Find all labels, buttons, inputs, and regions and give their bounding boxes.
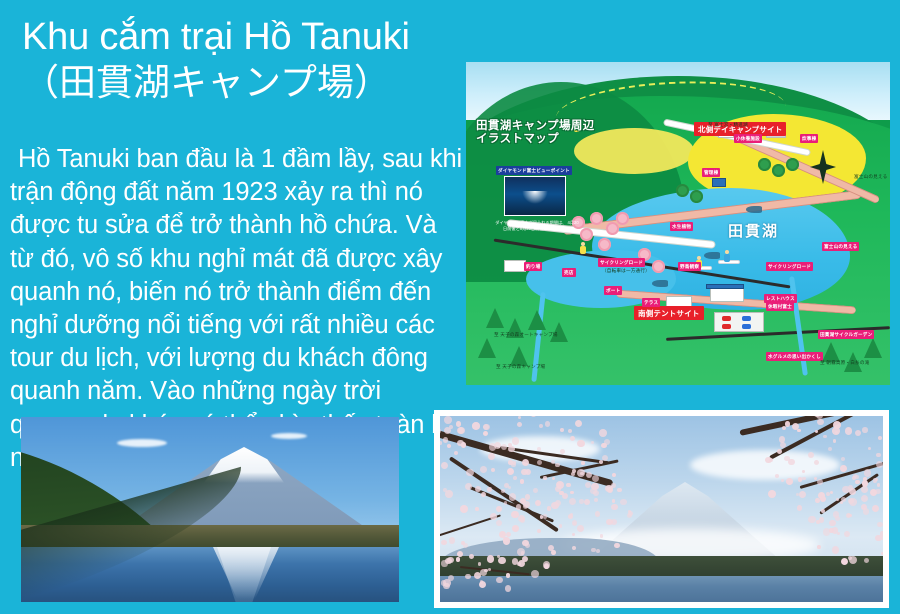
- cherry-blossom: [443, 583, 449, 589]
- cherry-blossom: [784, 456, 790, 462]
- cherry-blossom: [513, 476, 517, 480]
- cherry-blossom: [560, 428, 564, 432]
- compass-west: [810, 163, 823, 171]
- map-car-icon: [722, 316, 731, 321]
- map-label-chip: 水生植物: [670, 222, 693, 231]
- cherry-blossom: [862, 427, 867, 432]
- cherry-blossom: [840, 465, 847, 472]
- cherry-blossom: [602, 455, 608, 461]
- map-conifer: [486, 308, 504, 328]
- cherry-blossom: [469, 554, 474, 559]
- photo-cloud: [271, 433, 307, 439]
- cherry-blossom: [820, 496, 826, 502]
- cherry-blossom: [508, 486, 511, 489]
- cherry-blossom: [821, 509, 825, 513]
- cherry-blossom: [488, 568, 491, 571]
- cherry-blossom: [802, 477, 805, 480]
- cherry-blossom: [548, 545, 554, 551]
- cherry-blossom: [579, 499, 584, 504]
- cherry-blossom: [570, 491, 574, 495]
- cherry-blossom: [504, 501, 508, 505]
- cherry-blossom: [543, 561, 551, 569]
- cherry-blossom: [505, 585, 512, 592]
- map-building-resthouse: [710, 288, 744, 302]
- map-label-chip: 田貫湖サイクルガーデン: [818, 330, 874, 339]
- cherry-blossom: [577, 440, 584, 447]
- cherry-blossom: [487, 555, 494, 562]
- map-parking-lot: [714, 312, 764, 332]
- cherry-blossom: [509, 493, 516, 500]
- map-label-chip: 至 天子の森オートキャンプ場: [492, 330, 560, 339]
- map-label-chip: 至 天子の森キャンプ場: [494, 362, 547, 371]
- cherry-blossom: [863, 477, 867, 481]
- map-label-chip: 至 朝霧高原・白糸の滝: [818, 358, 871, 367]
- cherry-blossom: [496, 506, 502, 512]
- cherry-blossom: [881, 552, 883, 555]
- cherry-blossom: [844, 531, 850, 537]
- map-conifer: [478, 338, 496, 358]
- cherry-blossom: [475, 486, 481, 492]
- map-cherry-tree: [580, 228, 593, 241]
- map-fish-icon: [652, 280, 668, 287]
- cherry-blossom: [799, 491, 806, 498]
- map-person-body: [580, 246, 586, 254]
- cherry-blossom: [599, 460, 603, 464]
- cherry-blossom: [841, 497, 846, 502]
- map-label-chip: 富士山の見える: [852, 172, 889, 181]
- cherry-blossom: [466, 469, 473, 476]
- cherry-blossom: [555, 463, 560, 468]
- map-car-icon: [722, 324, 731, 329]
- cherry-blossom: [808, 516, 816, 524]
- cherry-blossom: [873, 478, 877, 482]
- map-conifer: [864, 338, 882, 358]
- cherry-blossom: [835, 516, 840, 521]
- compass-east: [823, 163, 836, 171]
- map-cherry-tree: [616, 212, 629, 225]
- cherry-blossom: [483, 424, 489, 430]
- cherry-blossom: [472, 422, 479, 429]
- cherry-blossom: [796, 493, 799, 496]
- cherry-blossom: [454, 451, 458, 455]
- cherry-blossom: [441, 462, 448, 469]
- map-label-chip: ボート: [604, 286, 622, 295]
- cherry-blossom: [768, 490, 776, 498]
- map-label-chip: 釣り場: [524, 262, 542, 271]
- map-tree: [758, 158, 771, 171]
- cherry-blossom: [798, 477, 802, 481]
- map-person-body: [724, 254, 730, 262]
- cherry-blossom: [512, 437, 519, 444]
- cherry-blossom-fuji-photo: [434, 410, 889, 608]
- cherry-blossom: [461, 541, 465, 545]
- map-tree: [676, 184, 689, 197]
- map-label-chip: 管理棟: [702, 168, 720, 177]
- page-title: Khu cắm trại Hồ Tanuki （田貫湖キャンプ場）: [22, 14, 462, 106]
- map-cherry-tree: [598, 238, 611, 251]
- map-person-figure: [724, 250, 730, 262]
- cherry-blossom: [489, 443, 496, 450]
- cherry-blossom: [543, 514, 547, 518]
- cherry-blossom: [604, 439, 610, 445]
- cherry-blossom: [456, 557, 460, 561]
- map-building-shop: [504, 260, 526, 272]
- cherry-blossom: [817, 545, 821, 549]
- cherry-blossom: [848, 498, 854, 504]
- cherry-blossom: [855, 480, 859, 484]
- cherry-blossom: [864, 558, 869, 563]
- diamond-fuji-viewpoint-inset: [504, 176, 566, 216]
- map-building-resthouse-roof: [706, 284, 744, 289]
- cherry-blossom: [595, 511, 601, 517]
- map-cherry-tree: [606, 222, 619, 235]
- cherry-blossom: [877, 483, 880, 486]
- map-fish-icon: [746, 206, 762, 213]
- cherry-blossom: [581, 461, 585, 465]
- map-fish-icon: [704, 252, 720, 259]
- cherry-blossom: [517, 422, 522, 427]
- cherry-blossom: [611, 504, 618, 511]
- cherry-blossom: [503, 537, 511, 545]
- cherry-blossom: [499, 531, 506, 538]
- cherry-blossom: [855, 430, 861, 436]
- title-line-vietnamese: Khu cắm trại Hồ Tanuki: [22, 14, 462, 60]
- map-label-chip: サイクリングロード: [766, 262, 813, 271]
- map-title-line-1: 田貫湖キャンプ場周辺: [476, 120, 595, 133]
- cherry-blossom: [443, 437, 448, 442]
- cherry-blossom: [475, 507, 479, 511]
- cherry-blossom: [594, 498, 598, 502]
- cherry-blossom: [545, 421, 551, 427]
- cherry-blossom: [531, 570, 539, 578]
- cherry-blossom: [620, 499, 626, 505]
- cherry-blossom: [543, 476, 546, 479]
- cherry-blossom: [445, 490, 452, 497]
- map-label-chip: 休暇村富士: [766, 302, 794, 311]
- cherry-blossom: [876, 461, 883, 468]
- cherry-blossom: [447, 557, 453, 563]
- cherry-blossom: [596, 549, 600, 553]
- cherry-blossom: [501, 489, 505, 493]
- cherry-blossom: [872, 505, 879, 512]
- cherry-blossom: [480, 569, 487, 576]
- map-label-chip: ダイヤモンド富士ビューポイント: [496, 166, 572, 175]
- cherry-blossom: [444, 427, 451, 434]
- compass-rose-icon: [806, 150, 840, 184]
- map-label-chip: テラス: [642, 298, 660, 307]
- mount-fuji-reflection-photo: [21, 417, 399, 602]
- cherry-blossom: [607, 487, 613, 493]
- map-lake-label: 田貫湖: [728, 220, 779, 241]
- cherry-blossom: [845, 427, 853, 435]
- cherry-blossom: [570, 513, 573, 516]
- slide-root: Khu cắm trại Hồ Tanuki （田貫湖キャンプ場） Hồ Tan…: [0, 0, 900, 614]
- cherry-blossom: [490, 513, 497, 520]
- title-line-japanese: （田貫湖キャンプ場）: [22, 60, 462, 106]
- cherry-blossom: [577, 469, 585, 477]
- cherry-blossom: [591, 441, 594, 444]
- cherry-blossom: [833, 439, 837, 443]
- cherry-blossom: [592, 475, 599, 482]
- cherry-blossom: [523, 504, 528, 509]
- cherry-blossom: [537, 460, 542, 465]
- map-label-chip: 水グルメの思い出かくし: [766, 352, 823, 361]
- cherry-blossom: [551, 550, 556, 555]
- cherry-blossom: [512, 525, 519, 532]
- map-building-admin: [712, 178, 726, 187]
- cherry-blossom: [533, 488, 538, 493]
- map-label-chip: 売店: [562, 268, 576, 277]
- map-label-chip: （自転車は一方通行）: [600, 266, 652, 275]
- cherry-blossom: [487, 487, 492, 492]
- cherry-blossom: [612, 499, 616, 503]
- map-car-icon: [742, 316, 751, 321]
- map-label-chip: 小休養施設: [734, 134, 762, 143]
- cherry-blossom: [614, 543, 620, 549]
- cherry-blossom: [465, 574, 470, 579]
- map-label-chip: 富士山の見える: [822, 242, 859, 251]
- cherry-blossom: [848, 485, 853, 490]
- cherry-blossom: [817, 419, 823, 425]
- cherry-blossom: [599, 429, 607, 437]
- photo-cloud: [117, 439, 167, 447]
- photo-cloud: [690, 450, 840, 480]
- illustrated-map-image: 田貫湖: [466, 62, 890, 385]
- map-title-line-2: イラストマップ: [476, 133, 595, 146]
- cherry-blossom: [555, 486, 561, 492]
- photo-inner-frame: [440, 416, 883, 602]
- cherry-blossom: [815, 498, 820, 503]
- map-inset-caption: ダイヤモンド富士が見られる期間は、 4月20日前後と8月20日前後の約1週間です: [494, 220, 580, 232]
- map-label-chip: 野鳥観察: [678, 262, 701, 271]
- cherry-blossom: [797, 505, 802, 510]
- map-title: 田貫湖キャンプ場周辺 イラストマップ: [476, 120, 595, 146]
- cherry-blossom: [863, 508, 869, 514]
- map-car-icon: [742, 324, 751, 329]
- map-tree: [786, 158, 799, 171]
- map-cherry-tree: [652, 260, 665, 273]
- cherry-blossom: [617, 488, 622, 493]
- map-cherry-tree: [590, 212, 603, 225]
- cherry-blossom: [444, 416, 452, 424]
- cherry-blossom: [832, 546, 839, 553]
- map-label-chip: 南側テントサイト: [634, 306, 704, 320]
- cherry-blossom: [520, 479, 525, 484]
- cherry-blossom: [584, 499, 590, 505]
- cherry-blossom: [569, 498, 576, 505]
- cherry-blossom: [559, 524, 563, 528]
- cherry-blossom: [864, 469, 871, 476]
- cherry-blossom: [460, 505, 467, 512]
- map-tree: [772, 164, 785, 177]
- cherry-blossom: [830, 491, 833, 494]
- cherry-blossom: [441, 540, 446, 545]
- cherry-blossom: [506, 573, 511, 578]
- map-conifer: [528, 310, 546, 330]
- cherry-blossom: [498, 557, 505, 564]
- cherry-blossom: [547, 506, 551, 510]
- cherry-blossom: [520, 517, 525, 522]
- map-tree: [690, 190, 703, 203]
- map-cyclist-figure: [580, 242, 586, 254]
- map-label-chip: 至 富士宮・精進湖: [706, 120, 750, 129]
- cherry-blossom: [785, 421, 791, 427]
- map-label-chip: 炊事棟: [800, 134, 818, 143]
- cherry-blossom: [829, 520, 836, 527]
